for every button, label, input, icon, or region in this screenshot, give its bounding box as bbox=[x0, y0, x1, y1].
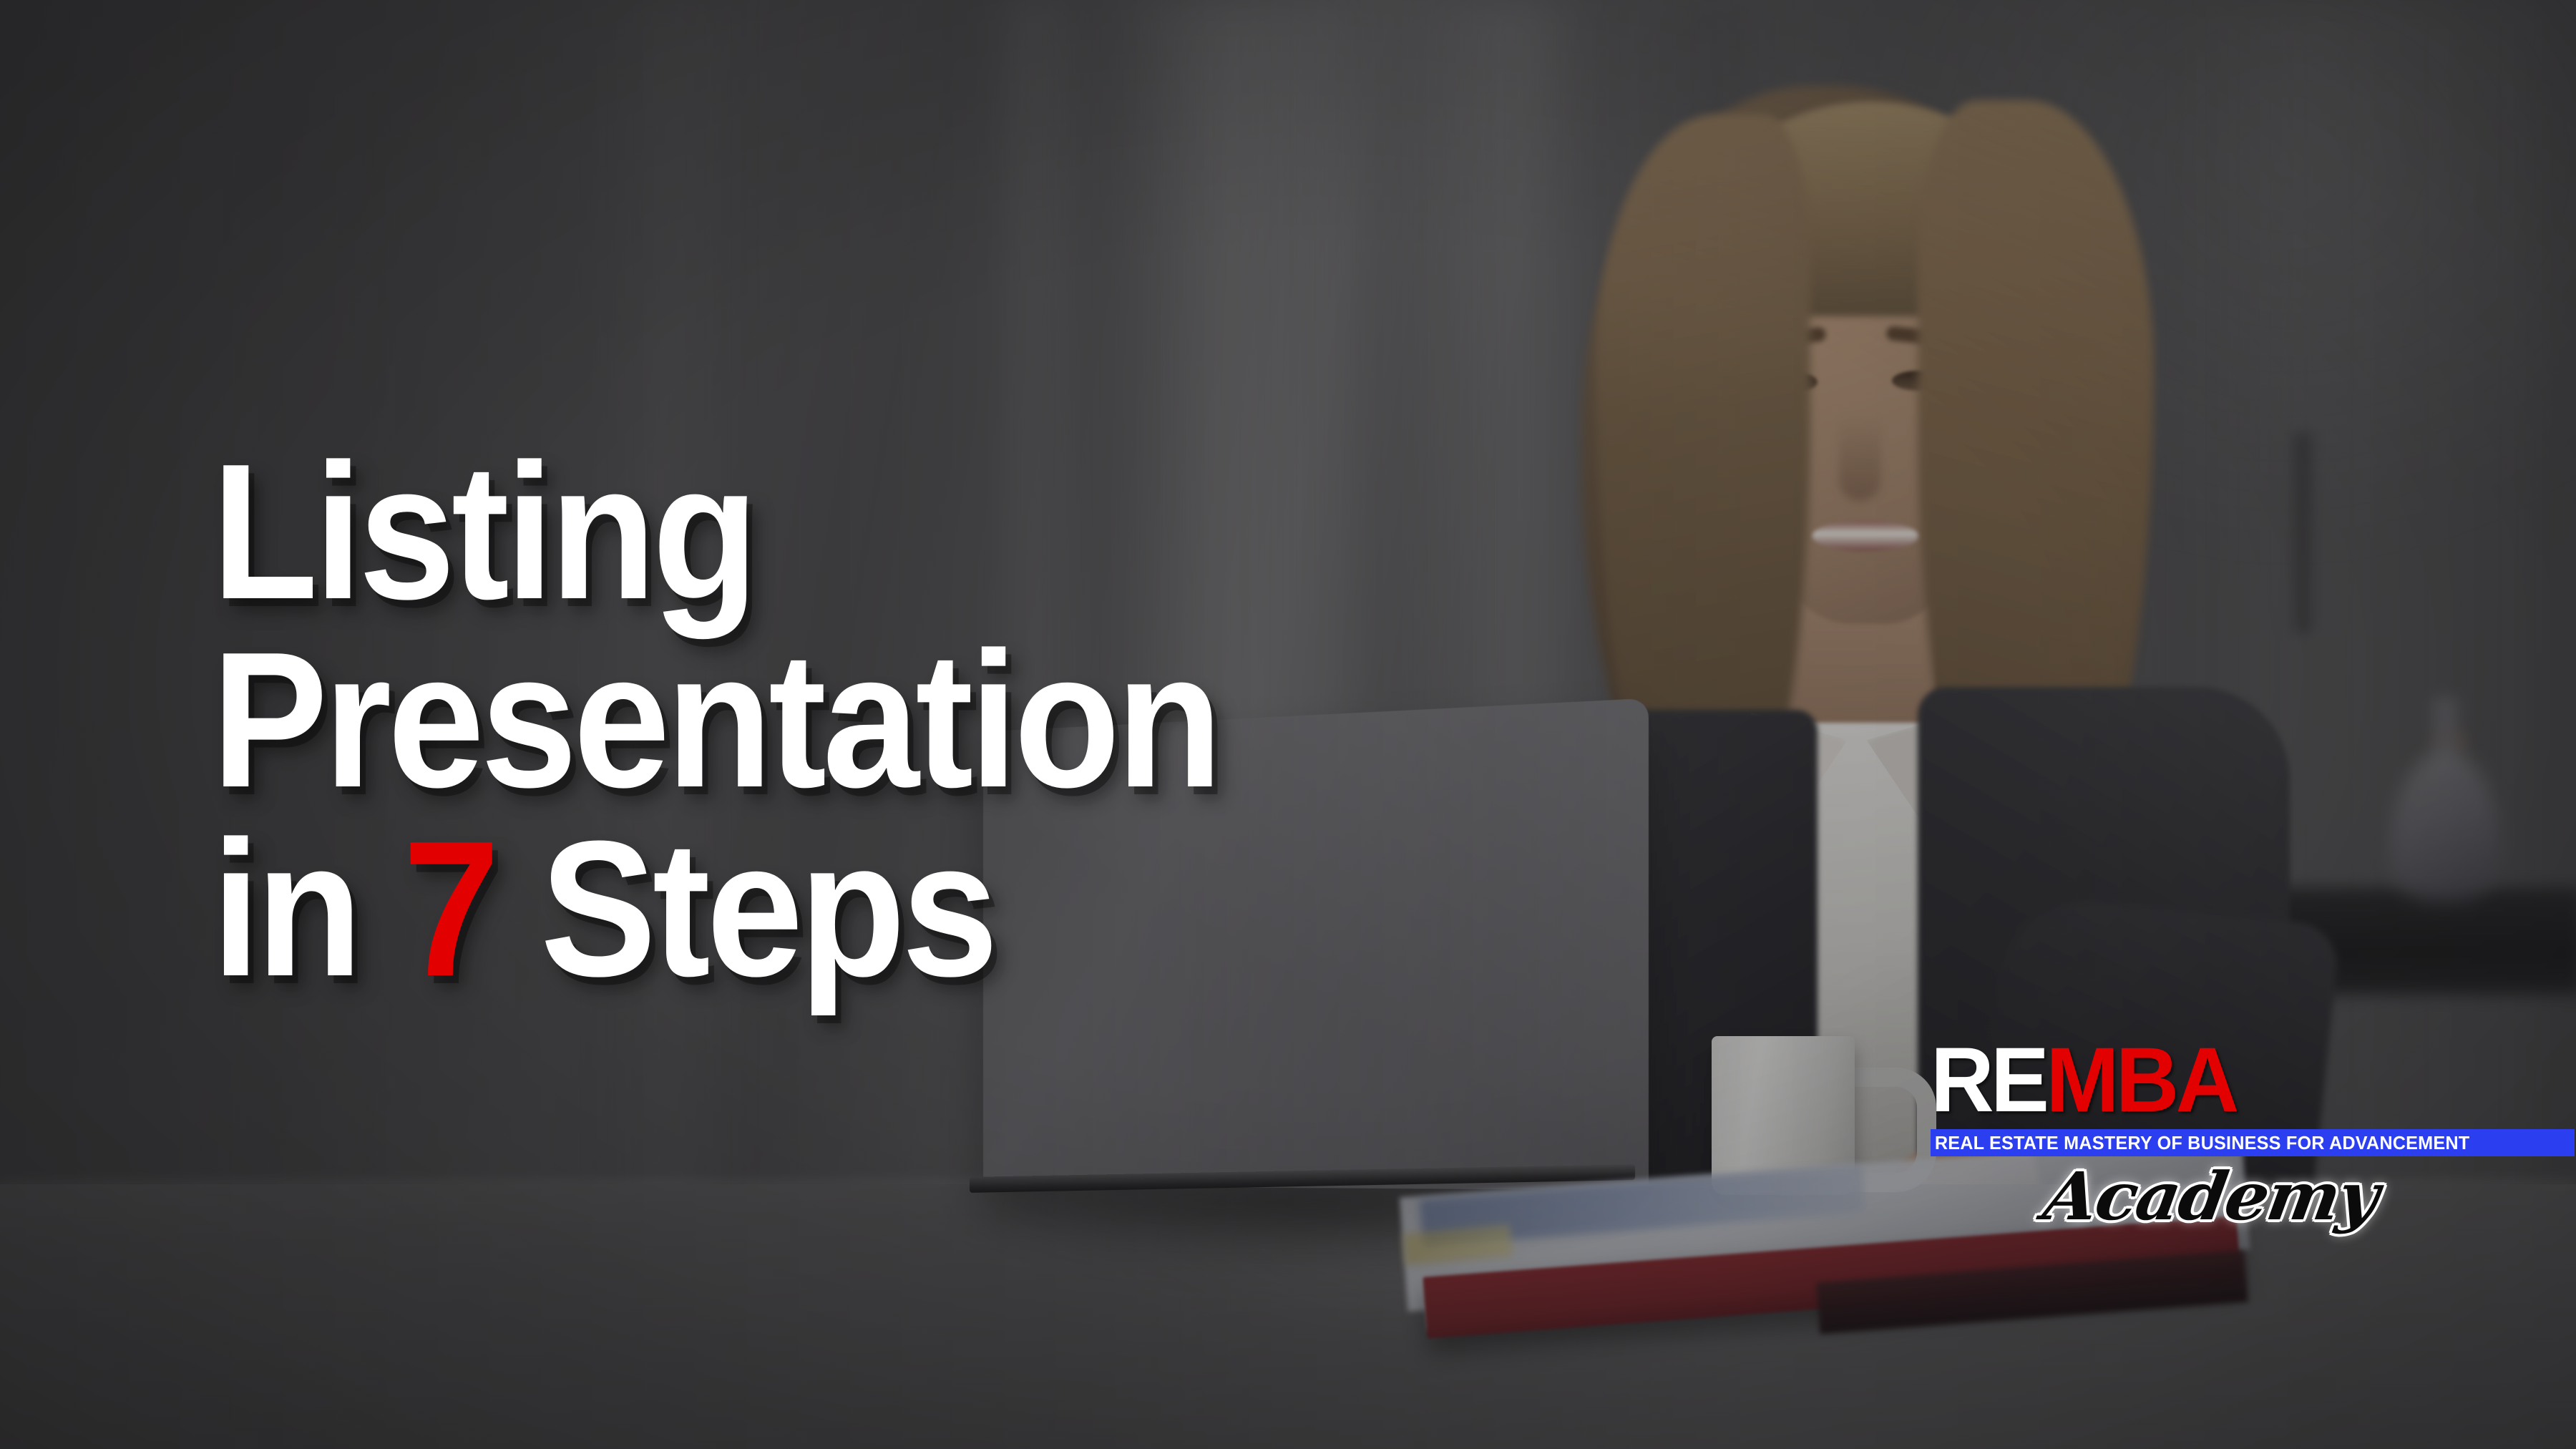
logo-academy-script: Academy bbox=[2039, 1158, 2576, 1235]
logo-tagline-bar: REAL ESTATE MASTERY OF BUSINESS FOR ADVA… bbox=[1931, 1129, 2575, 1156]
headline-step-count: 7 bbox=[403, 801, 496, 1017]
hero-banner: Listing Presentation in 7 Steps REMBA RE… bbox=[0, 0, 2576, 1449]
logo-wordmark-re: RE bbox=[1931, 1029, 2046, 1131]
logo-tagline-text: REAL ESTATE MASTERY OF BUSINESS FOR ADVA… bbox=[1931, 1132, 2469, 1154]
hero-headline: Listing Presentation in 7 Steps bbox=[212, 438, 1219, 1003]
remba-academy-logo[interactable]: REMBA REAL ESTATE MASTERY OF BUSINESS FO… bbox=[1931, 1035, 2576, 1235]
headline-line-2: Presentation bbox=[212, 626, 1219, 814]
headline-line-1: Listing bbox=[212, 438, 1219, 626]
headline-line-3-suffix: Steps bbox=[496, 801, 995, 1017]
headline-line-3: in 7 Steps bbox=[212, 815, 1219, 1003]
logo-wordmark-mba: MBA bbox=[2046, 1029, 2235, 1131]
headline-line-3-prefix: in bbox=[212, 801, 403, 1017]
logo-wordmark: REMBA bbox=[1931, 1035, 2550, 1126]
